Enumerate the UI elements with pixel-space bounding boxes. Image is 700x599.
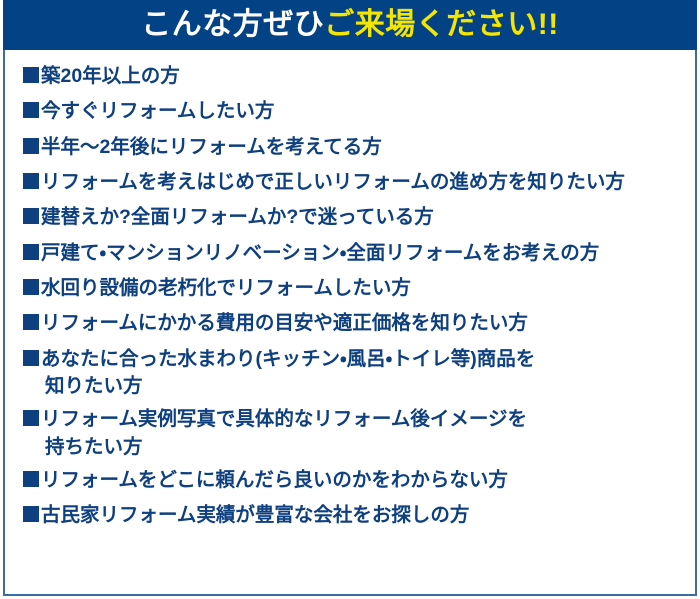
list-item-label: リフォームを考えはじめで正しいリフォームの進め方を知りたい方 [41,171,625,193]
page-title-primary: こんな方ぜひ [141,8,324,41]
list-item-label: リフォームをどこに頼んだら良いのかをわからない方 [41,469,508,491]
list-item-line: あなたに合った水まわり(キッチン・風呂・トイレ等)商品を [23,349,685,371]
square-bullet-icon [23,350,39,366]
list-item-label: 今すぐリフォームしたい方 [41,100,274,122]
list-item-label-continued: 持ちたい方 [23,437,685,459]
list-item-line: 今すぐリフォームしたい方 [23,101,685,123]
square-bullet-icon [23,102,39,118]
list-item-label: 戸建て・マンションリノベーション・全面リフォームをお考えの方 [41,242,599,264]
list-item: 戸建て・マンションリノベーション・全面リフォームをお考えの方 [15,243,685,265]
list-item: リフォームを考えはじめで正しいリフォームの進め方を知りたい方 [15,172,685,194]
list-item: 水回り設備の老朽化でリフォームしたい方 [15,278,685,300]
list-item: 今すぐリフォームしたい方 [15,101,685,123]
square-bullet-icon [23,506,39,522]
page-title-accent: ご来場ください!! [324,8,558,41]
square-bullet-icon [23,279,39,295]
list-item-line: 建替えか?全面リフォームか?で迷っている方 [23,207,685,229]
list-item-line: リフォーム実例写真で具体的なリフォーム後イメージを [23,409,685,431]
list-item-line: リフォームを考えはじめで正しいリフォームの進め方を知りたい方 [23,172,685,194]
list-item-label: 築20年以上の方 [41,65,180,87]
square-bullet-icon [23,471,39,487]
list-item-label: 半年〜2年後にリフォームを考えてる方 [41,136,382,158]
list-item-line: 水回り設備の老朽化でリフォームしたい方 [23,278,685,300]
page-title: こんな方ぜひご来場ください!! [141,10,558,40]
list-item: リフォームにかかる費用の目安や適正価格を知りたい方 [15,313,685,335]
promo-panel: こんな方ぜひご来場ください!! 築20年以上の方 今すぐリフォームしたい方 半年… [0,0,700,599]
square-bullet-icon [23,244,39,260]
list-item: リフォームをどこに頼んだら良いのかをわからない方 [15,470,685,492]
list-item-label: あなたに合った水まわり(キッチン・風呂・トイレ等)商品を [41,348,535,370]
square-bullet-icon [23,67,39,83]
square-bullet-icon [23,138,39,154]
list-item-label: 古民家リフォーム実績が豊富な会社をお探しの方 [41,504,469,526]
list-item: 建替えか?全面リフォームか?で迷っている方 [15,207,685,229]
qualification-list: 築20年以上の方 今すぐリフォームしたい方 半年〜2年後にリフォームを考えてる方… [15,66,685,527]
square-bullet-icon [23,410,39,426]
list-item-line: 戸建て・マンションリノベーション・全面リフォームをお考えの方 [23,243,685,265]
list-item-line: リフォームにかかる費用の目安や適正価格を知りたい方 [23,313,685,335]
list-item-label: リフォーム実例写真で具体的なリフォーム後イメージを [41,408,527,430]
square-bullet-icon [23,314,39,330]
list-item-line: 半年〜2年後にリフォームを考えてる方 [23,137,685,159]
header-band: こんな方ぜひご来場ください!! [3,0,697,50]
list-item: 古民家リフォーム実績が豊富な会社をお探しの方 [15,505,685,527]
list-item: リフォーム実例写真で具体的なリフォーム後イメージを 持ちたい方 [15,409,685,459]
body-frame: 築20年以上の方 今すぐリフォームしたい方 半年〜2年後にリフォームを考えてる方… [3,50,697,596]
list-item-line: 築20年以上の方 [23,66,685,88]
list-item-label: 水回り設備の老朽化でリフォームしたい方 [41,277,411,299]
list-item-label: リフォームにかかる費用の目安や適正価格を知りたい方 [41,312,528,334]
list-item: 築20年以上の方 [15,66,685,88]
list-item: 半年〜2年後にリフォームを考えてる方 [15,137,685,159]
list-item-label: 建替えか?全面リフォームか?で迷っている方 [41,206,434,228]
square-bullet-icon [23,208,39,224]
list-item-label-continued: 知りたい方 [23,376,685,398]
list-item-line: リフォームをどこに頼んだら良いのかをわからない方 [23,470,685,492]
list-item-line: 古民家リフォーム実績が豊富な会社をお探しの方 [23,505,685,527]
list-item: あなたに合った水まわり(キッチン・風呂・トイレ等)商品を 知りたい方 [15,349,685,399]
square-bullet-icon [23,173,39,189]
